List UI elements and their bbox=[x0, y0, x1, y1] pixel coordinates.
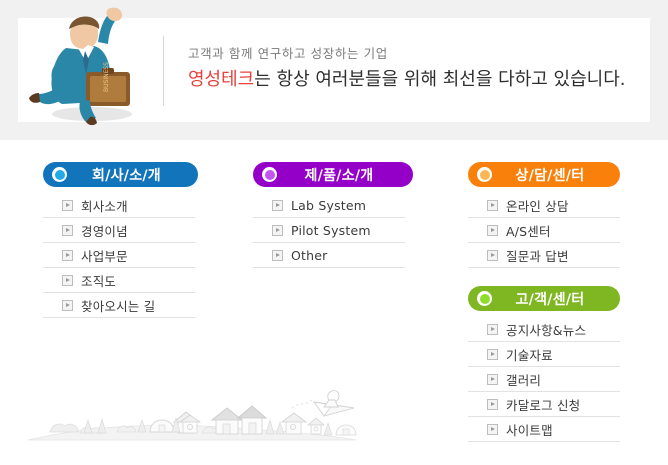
arrow-right-bullet-icon bbox=[272, 200, 283, 211]
banner-headline-rest: 는 항상 여러분들을 위해 최선을 다하고 있습니다. bbox=[254, 69, 625, 90]
menu-item-label: A/S센터 bbox=[506, 221, 551, 240]
arrow-right-bullet-icon bbox=[487, 424, 498, 435]
menu-item-sitemap[interactable]: 사이트맵 bbox=[468, 417, 620, 442]
menu-list-customer: 공지사항&뉴스 기술자료 갤러리 카달로그 신청 사이트맵 bbox=[468, 317, 620, 442]
arrow-right-bullet-icon bbox=[487, 200, 498, 211]
menu-item-online-consult[interactable]: 온라인 상담 bbox=[468, 193, 620, 218]
category-header-consult[interactable]: 상/담/센/터 bbox=[468, 162, 620, 187]
banner-tagline: 고객과 함께 연구하고 성장하는 기업 bbox=[188, 44, 638, 64]
arrow-right-bullet-icon bbox=[62, 225, 73, 236]
category-dot-icon bbox=[262, 167, 277, 182]
menu-item-gallery[interactable]: 갤러리 bbox=[468, 367, 620, 392]
menu-item-label: 조직도 bbox=[81, 271, 116, 290]
arrow-right-bullet-icon bbox=[272, 250, 283, 261]
category-header-customer[interactable]: 고/객/센/터 bbox=[468, 286, 620, 311]
arrow-right-bullet-icon bbox=[487, 399, 498, 410]
arrow-right-bullet-icon bbox=[62, 275, 73, 286]
menu-item-notice-news[interactable]: 공지사항&뉴스 bbox=[468, 317, 620, 342]
menu-item-faq[interactable]: 질문과 답변 bbox=[468, 243, 620, 268]
menu-item-label: 사업부문 bbox=[81, 246, 128, 265]
category-dot-icon bbox=[52, 167, 67, 182]
arrow-right-bullet-icon bbox=[487, 349, 498, 360]
menu-list-company: 회사소개 경영이념 사업부문 조직도 찾아오시는 길 bbox=[43, 193, 195, 318]
banner-brand-name: 영성테크 bbox=[188, 69, 254, 90]
menu-item-pilot-system[interactable]: Pilot System bbox=[253, 218, 405, 243]
menu-item-business-division[interactable]: 사업부문 bbox=[43, 243, 195, 268]
banner-headline: 영성테크는 항상 여러분들을 위해 최선을 다하고 있습니다. bbox=[188, 66, 638, 94]
menu-item-label: Lab System bbox=[291, 198, 366, 213]
menu-list-consult: 온라인 상담 A/S센터 질문과 답변 bbox=[468, 193, 620, 268]
jumping-businessman-illustration: BUSINESS bbox=[26, 4, 156, 128]
menu-item-organization-chart[interactable]: 조직도 bbox=[43, 268, 195, 293]
arrow-right-bullet-icon bbox=[62, 200, 73, 211]
arrow-right-bullet-icon bbox=[487, 374, 498, 385]
category-label-customer: 고/객/센/터 bbox=[492, 289, 620, 309]
arrow-right-bullet-icon bbox=[62, 300, 73, 311]
category-label-consult: 상/담/센/터 bbox=[492, 165, 620, 185]
menu-item-label: 갤러리 bbox=[506, 370, 541, 389]
menu-item-label: 카달로그 신청 bbox=[506, 395, 580, 414]
sitemap-column-customer: 고/객/센/터 공지사항&뉴스 기술자료 갤러리 카달로그 신청 사이트맵 bbox=[468, 286, 623, 442]
arrow-right-bullet-icon bbox=[272, 225, 283, 236]
arrow-right-bullet-icon bbox=[487, 225, 498, 236]
sitemap-column-product: 제/품/소/개 Lab System Pilot System Other bbox=[253, 162, 408, 268]
category-label-product: 제/품/소/개 bbox=[277, 165, 413, 185]
menu-item-label: 질문과 답변 bbox=[506, 246, 569, 265]
menu-item-label: 공지사항&뉴스 bbox=[506, 320, 586, 339]
svg-text:BUSINESS: BUSINESS bbox=[103, 62, 110, 92]
menu-item-lab-system[interactable]: Lab System bbox=[253, 193, 405, 218]
category-dot-icon bbox=[477, 291, 492, 306]
menu-item-directions[interactable]: 찾아오시는 길 bbox=[43, 293, 195, 318]
menu-item-company-intro[interactable]: 회사소개 bbox=[43, 193, 195, 218]
menu-item-other[interactable]: Other bbox=[253, 243, 405, 268]
menu-item-label: 온라인 상담 bbox=[506, 196, 569, 215]
banner-card: BUSINESS 고객과 함께 연구하고 성장하는 기업 영성테크는 항상 여러… bbox=[18, 18, 650, 122]
menu-item-label: 회사소개 bbox=[81, 196, 128, 215]
menu-list-product: Lab System Pilot System Other bbox=[253, 193, 405, 268]
menu-item-label: 기술자료 bbox=[506, 345, 553, 364]
category-header-product[interactable]: 제/품/소/개 bbox=[253, 162, 413, 187]
menu-item-catalog-request[interactable]: 카달로그 신청 bbox=[468, 392, 620, 417]
menu-item-technical-data[interactable]: 기술자료 bbox=[468, 342, 620, 367]
sitemap-column-company: 회/사/소/개 회사소개 경영이념 사업부문 조직도 찾아오시는 길 bbox=[43, 162, 198, 318]
banner-text: 고객과 함께 연구하고 성장하는 기업 영성테크는 항상 여러분들을 위해 최선… bbox=[188, 44, 638, 94]
menu-item-label: Other bbox=[291, 248, 328, 263]
arrow-right-bullet-icon bbox=[62, 250, 73, 261]
banner-divider bbox=[163, 36, 164, 106]
menu-item-label: Pilot System bbox=[291, 223, 371, 238]
sitemap-column-consult: 상/담/센/터 온라인 상담 A/S센터 질문과 답변 bbox=[468, 162, 623, 268]
arrow-right-bullet-icon bbox=[487, 250, 498, 261]
menu-item-management-philosophy[interactable]: 경영이념 bbox=[43, 218, 195, 243]
arrow-right-bullet-icon bbox=[487, 324, 498, 335]
menu-item-as-center[interactable]: A/S센터 bbox=[468, 218, 620, 243]
village-landscape-illustration bbox=[24, 378, 364, 448]
category-dot-icon bbox=[477, 167, 492, 182]
category-header-company[interactable]: 회/사/소/개 bbox=[43, 162, 198, 187]
menu-item-label: 찾아오시는 길 bbox=[81, 296, 155, 315]
menu-item-label: 경영이념 bbox=[81, 221, 128, 240]
banner-strip: BUSINESS 고객과 함께 연구하고 성장하는 기업 영성테크는 항상 여러… bbox=[0, 0, 668, 140]
category-label-company: 회/사/소/개 bbox=[67, 165, 198, 185]
menu-item-label: 사이트맵 bbox=[506, 420, 553, 439]
